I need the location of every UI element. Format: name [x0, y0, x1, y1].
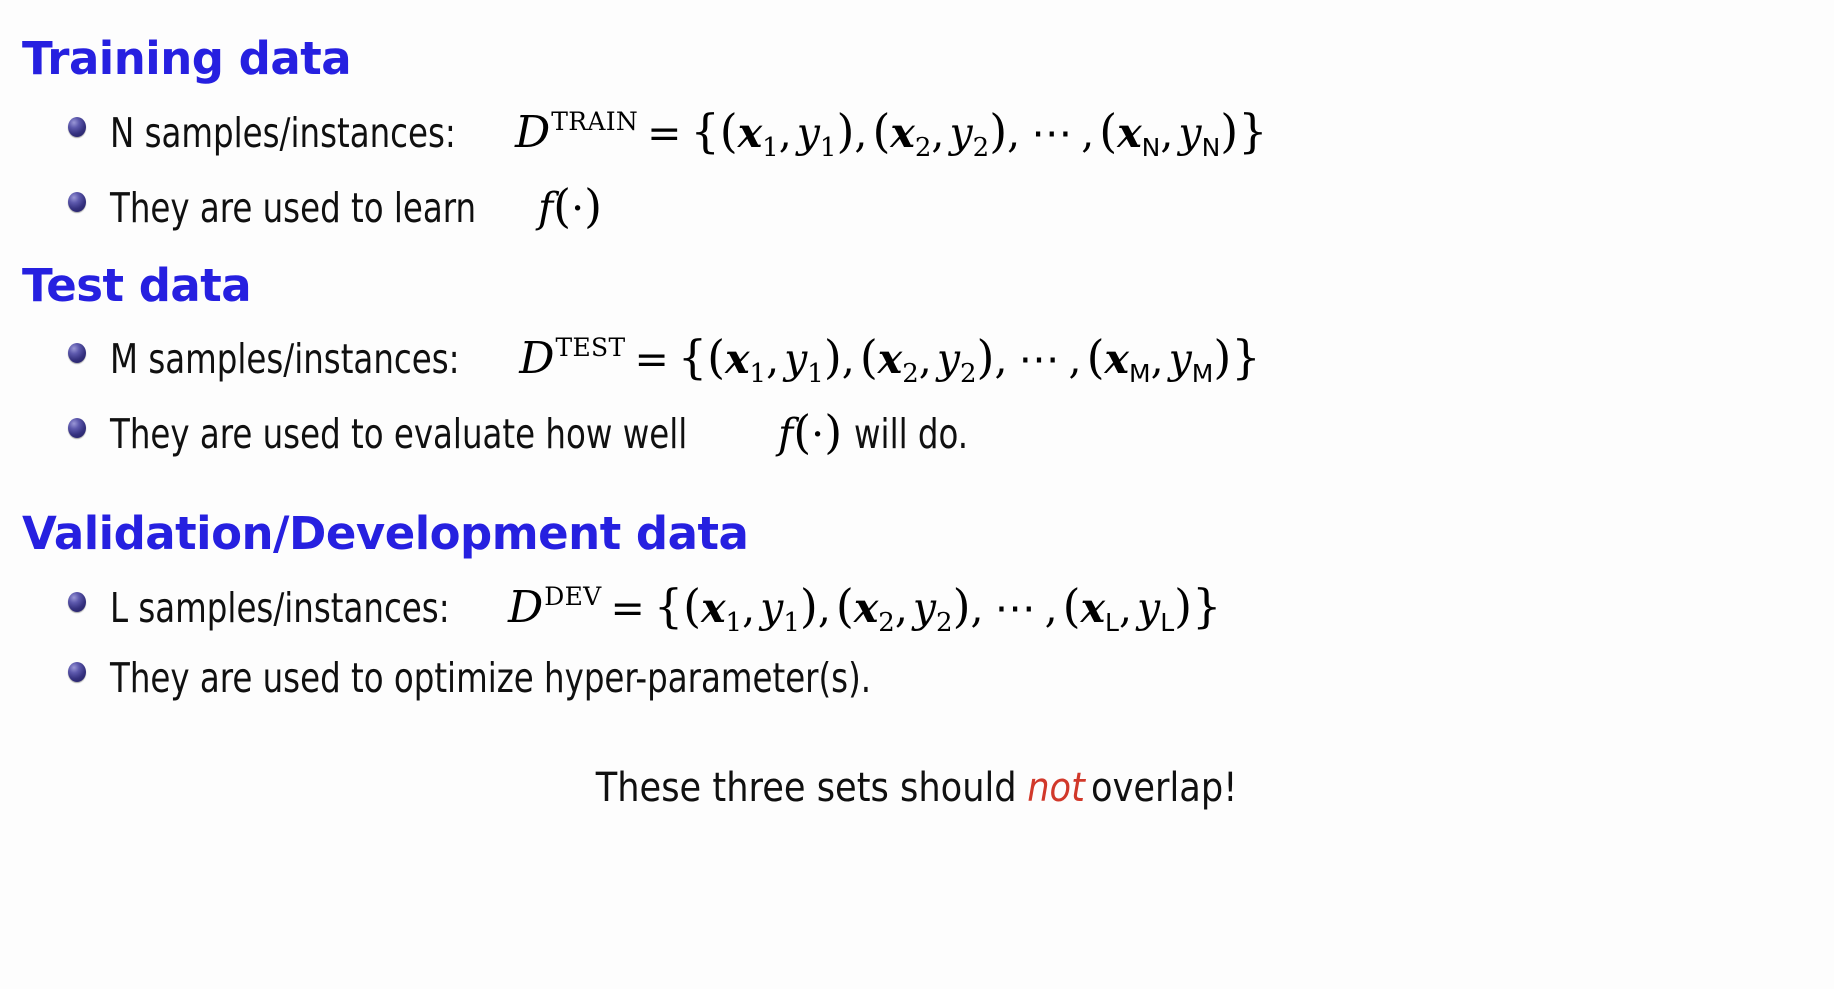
bullet-sphere-icon — [68, 592, 86, 612]
math-y-subscript: 2 — [936, 608, 953, 638]
math-operator: = — [602, 584, 654, 632]
math-y-subscript: N — [1202, 133, 1221, 162]
math-operator: = — [638, 109, 690, 157]
math-separator: , — [842, 335, 860, 383]
math-open-brace: { — [654, 579, 683, 633]
section-heading-validation: Validation/Development data — [22, 511, 748, 556]
math-y-var: y — [760, 584, 783, 632]
math-close-paren: ) — [953, 579, 971, 633]
section-heading-test: Test data — [22, 263, 251, 308]
bullet-item-train-samples: N samples/instances: DTRAIN={(x1,y1),(x2… — [68, 108, 1268, 161]
bullet-item-test-evaluate: They are used to evaluate how well f(·) … — [68, 409, 984, 455]
math-open-paren: ( — [872, 104, 890, 158]
math-comma: , — [742, 584, 760, 632]
math-x-var: x — [725, 335, 749, 383]
math-open-paren: ( — [1099, 104, 1117, 158]
math-x-var: x — [1117, 109, 1141, 157]
math-x-var: x — [1081, 584, 1105, 632]
bullet-item-dev-optimize: They are used to optimize hyper-paramete… — [68, 658, 975, 699]
math-y-var: y — [937, 335, 960, 383]
math-expression-test: DTEST={(x1,y1),(x2,y2),⋯,(xM,yM)} — [519, 334, 1260, 387]
math-x-subscript: 2 — [902, 359, 919, 389]
math-separator: , — [971, 584, 989, 632]
bullet-text: N samples/instances: — [110, 113, 456, 154]
math-comma: , — [919, 335, 937, 383]
bullet-item-train-learn: They are used to learn f(·) — [68, 183, 602, 229]
bullet-text-before: They are used to evaluate how well — [110, 414, 687, 455]
math-close-paren: ) — [989, 104, 1007, 158]
math-separator: , — [1069, 335, 1087, 383]
math-open-paren: ( — [720, 104, 738, 158]
math-center-dot-icon: · — [811, 410, 824, 458]
math-x-subscript: N — [1142, 133, 1161, 162]
math-open-paren: ( — [793, 405, 811, 459]
math-x-subscript: L — [1105, 608, 1119, 637]
math-open-brace: { — [690, 104, 719, 158]
math-comma: , — [1160, 109, 1178, 157]
math-comma: , — [766, 335, 784, 383]
math-close-paren: ) — [584, 179, 602, 233]
math-center-dot-icon: · — [571, 184, 584, 232]
math-y-subscript: 2 — [973, 133, 990, 163]
math-comma: , — [1151, 335, 1169, 383]
math-x-subscript: 1 — [750, 359, 767, 389]
math-y-var: y — [949, 109, 972, 157]
bullet-item-dev-samples: L samples/instances: DDEV={(x1,y1),(x2,y… — [68, 583, 1221, 636]
math-close-paren: ) — [824, 330, 842, 384]
footer-text-before: These three sets should — [596, 765, 1017, 811]
math-ellipsis-icon: ⋯ — [1013, 335, 1069, 383]
math-y-var: y — [913, 584, 936, 632]
math-open-paren: ( — [553, 179, 571, 233]
math-comma: , — [1119, 584, 1137, 632]
footer-text-after: overlap! — [1091, 765, 1237, 811]
math-open-paren: ( — [683, 579, 701, 633]
math-f-var: f — [538, 184, 553, 232]
math-function-f: f(·) — [778, 409, 842, 455]
math-x-var: x — [1105, 335, 1129, 383]
math-y-var: y — [1137, 584, 1160, 632]
bullet-sphere-icon — [68, 343, 86, 363]
math-y-var: y — [784, 335, 807, 383]
math-ellipsis-icon: ⋯ — [1025, 109, 1081, 157]
bullet-text-after: will do. — [854, 414, 968, 455]
math-expression-train: DTRAIN={(x1,y1),(x2,y2),⋯,(xN,yN)} — [515, 108, 1267, 161]
section-heading-training: Training data — [22, 36, 351, 81]
math-comma: , — [931, 109, 949, 157]
math-open-paren: ( — [1087, 330, 1105, 384]
math-comma: , — [779, 109, 797, 157]
math-function-f: f(·) — [538, 183, 602, 229]
math-superscript: TEST — [556, 333, 626, 362]
math-separator: , — [818, 584, 836, 632]
math-x-subscript: 2 — [878, 608, 895, 638]
math-separator: , — [1045, 584, 1063, 632]
math-y-subscript: 1 — [783, 608, 800, 638]
math-superscript: TRAIN — [551, 107, 638, 136]
math-close-paren: ) — [1213, 330, 1231, 384]
math-open-paren: ( — [707, 330, 725, 384]
math-calligraphic-d: D — [515, 107, 551, 158]
math-superscript: DEV — [544, 582, 601, 611]
math-open-paren: ( — [836, 579, 854, 633]
math-close-paren: ) — [977, 330, 995, 384]
footer-note: These three sets shouldnotoverlap! — [0, 765, 1834, 811]
math-x-var: x — [890, 109, 914, 157]
math-y-subscript: M — [1192, 359, 1214, 388]
math-ellipsis-icon: ⋯ — [989, 584, 1045, 632]
math-separator: , — [854, 109, 872, 157]
bullet-sphere-icon — [68, 117, 86, 137]
math-y-subscript: 2 — [960, 359, 977, 389]
bullet-sphere-icon — [68, 418, 86, 438]
math-x-var: x — [701, 584, 725, 632]
math-comma: , — [895, 584, 913, 632]
math-separator: , — [995, 335, 1013, 383]
slide-canvas: Training data N samples/instances: DTRAI… — [0, 0, 1834, 989]
math-x-var: x — [854, 584, 878, 632]
math-close-brace: } — [1238, 104, 1267, 158]
math-separator: , — [1081, 109, 1099, 157]
math-x-subscript: M — [1129, 359, 1151, 388]
bullet-sphere-icon — [68, 192, 86, 212]
math-calligraphic-d: D — [519, 333, 555, 384]
math-x-var: x — [878, 335, 902, 383]
math-close-paren: ) — [824, 405, 842, 459]
math-f-var: f — [778, 410, 793, 458]
footer-emphasis-not: not — [1028, 765, 1086, 811]
math-close-brace: } — [1231, 330, 1260, 384]
math-separator: , — [1007, 109, 1025, 157]
math-y-subscript: 1 — [807, 359, 824, 389]
math-y-var: y — [1169, 335, 1192, 383]
math-x-subscript: 1 — [762, 133, 779, 163]
math-open-paren: ( — [1063, 579, 1081, 633]
math-y-var: y — [1178, 109, 1201, 157]
math-x-var: x — [738, 109, 762, 157]
math-calligraphic-d: D — [508, 582, 544, 633]
bullet-text: L samples/instances: — [110, 588, 450, 629]
math-close-paren: ) — [1174, 579, 1192, 633]
footer-note-inner: These three sets shouldnotoverlap! — [596, 765, 1238, 811]
math-operator: = — [625, 335, 677, 383]
math-expression-dev: DDEV={(x1,y1),(x2,y2),⋯,(xL,yL)} — [508, 583, 1221, 636]
math-y-subscript: L — [1160, 608, 1174, 637]
bullet-text: M samples/instances: — [110, 339, 460, 380]
math-y-var: y — [797, 109, 820, 157]
bullet-text: They are used to learn — [110, 188, 476, 229]
math-close-paren: ) — [800, 579, 818, 633]
bullet-sphere-icon — [68, 662, 86, 682]
math-y-subscript: 1 — [820, 133, 837, 163]
math-open-paren: ( — [860, 330, 878, 384]
bullet-item-test-samples: M samples/instances: DTEST={(x1,y1),(x2,… — [68, 334, 1261, 387]
math-x-subscript: 1 — [726, 608, 743, 638]
math-close-brace: } — [1192, 579, 1221, 633]
math-x-subscript: 2 — [915, 133, 932, 163]
math-close-paren: ) — [1220, 104, 1238, 158]
math-open-brace: { — [678, 330, 707, 384]
math-close-paren: ) — [836, 104, 854, 158]
bullet-text: They are used to optimize hyper-paramete… — [110, 658, 871, 699]
